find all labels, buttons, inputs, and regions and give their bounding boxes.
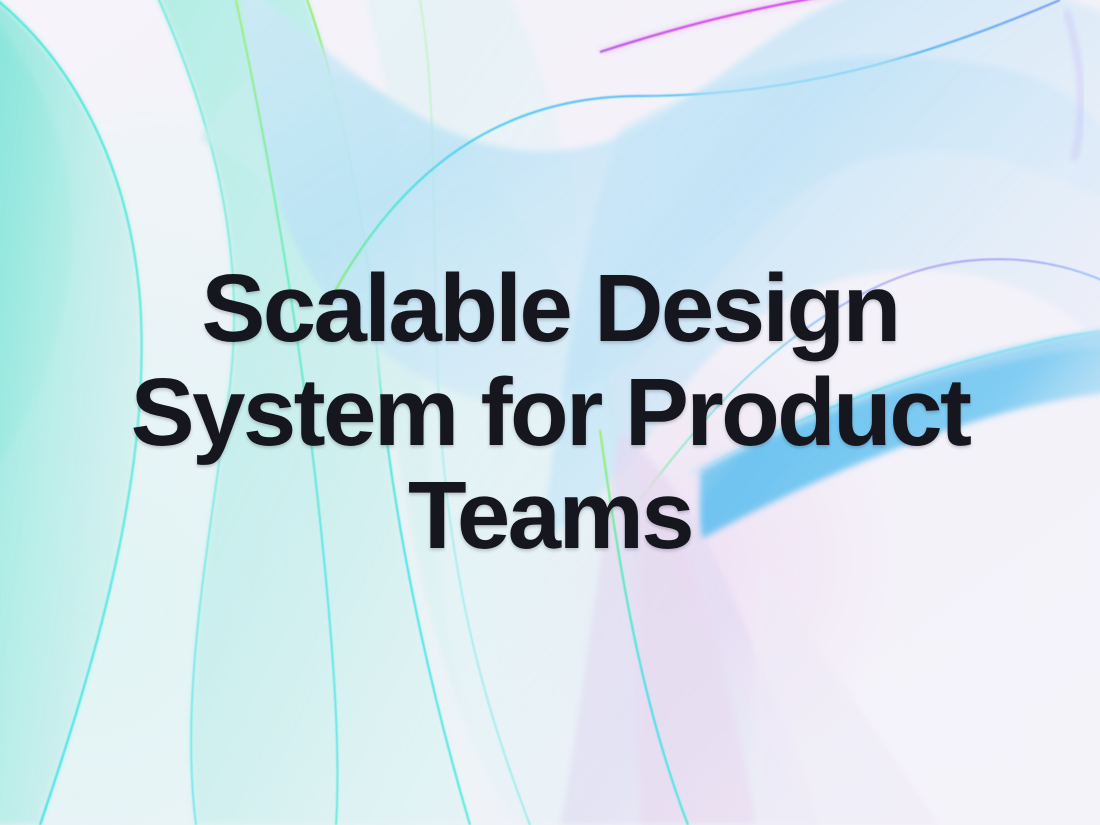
slide-canvas: Scalable Design System for Product Teams [0, 0, 1100, 825]
abstract-gradient-background [0, 0, 1100, 825]
tone-overlay [0, 0, 1100, 825]
